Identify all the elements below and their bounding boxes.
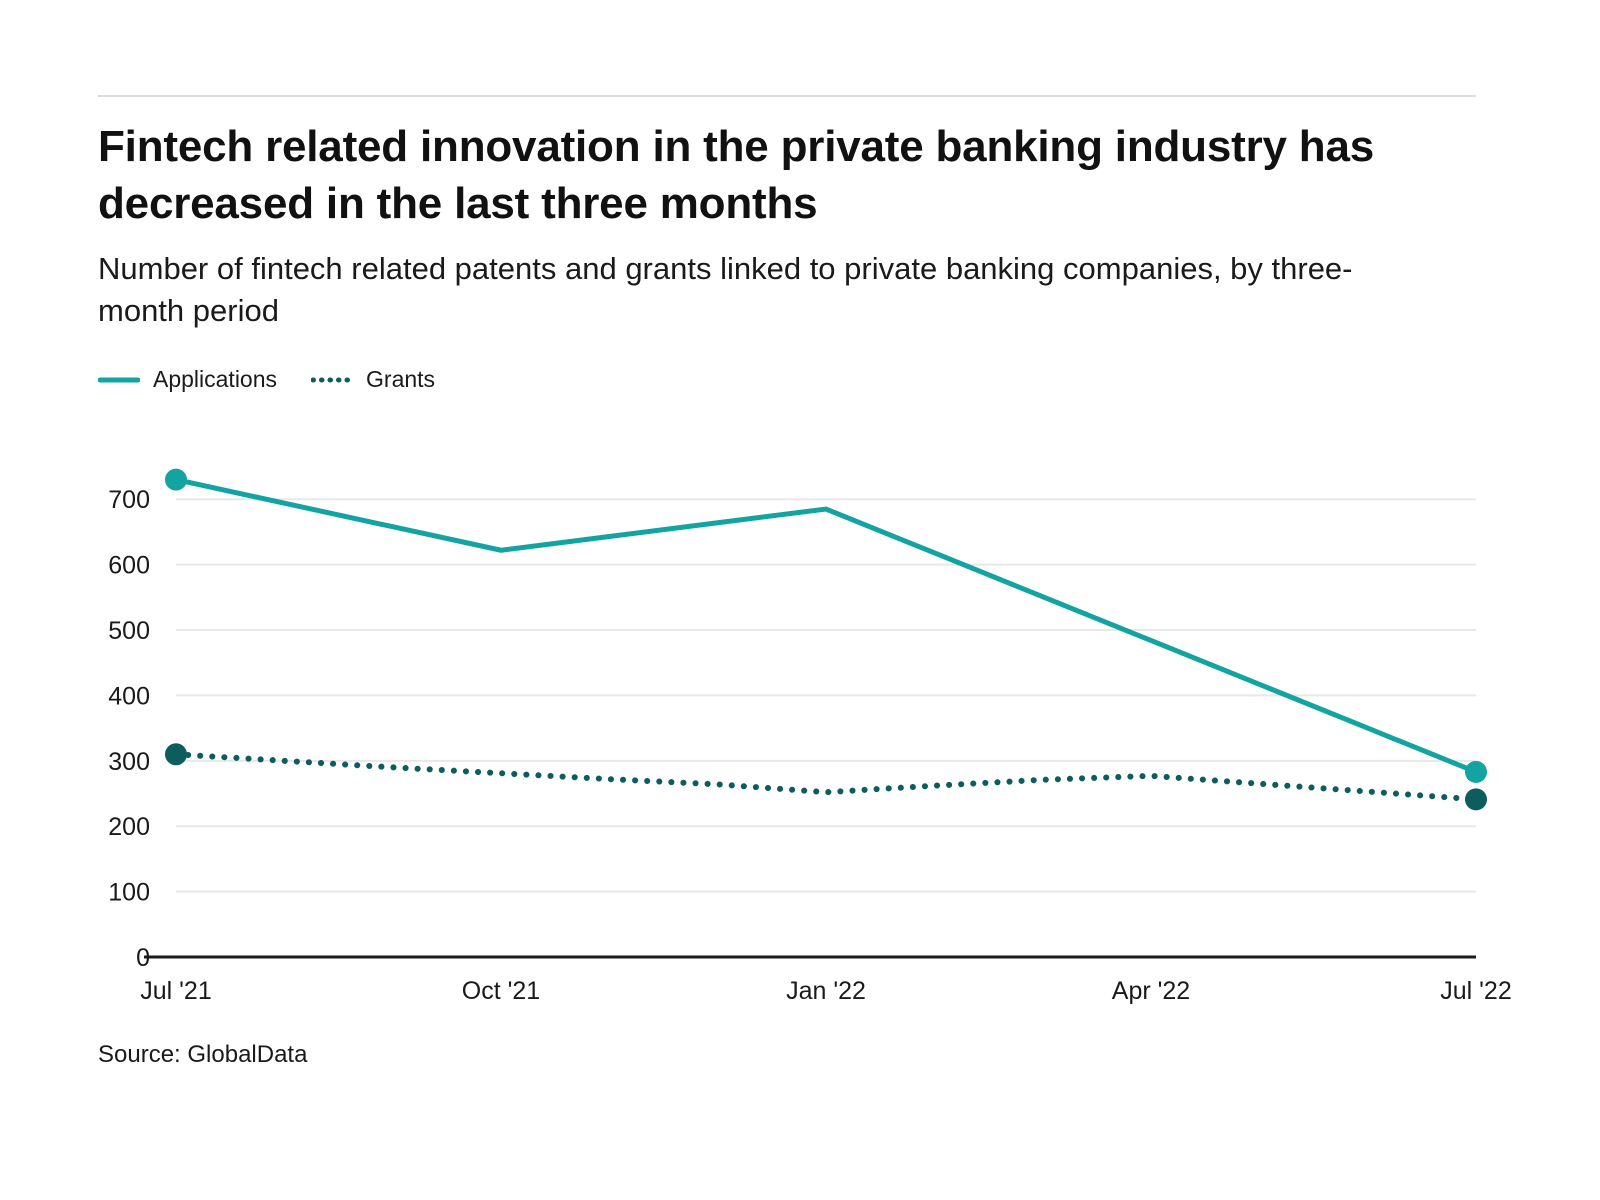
y-tick-label: 500 [108, 617, 150, 645]
x-tick-label: Oct '21 [462, 977, 540, 1005]
legend-swatch-solid-line-icon [98, 373, 140, 387]
legend-item-grants[interactable]: Grants [311, 368, 435, 391]
x-tick-label: Jan '22 [786, 977, 866, 1005]
data-point-marker [165, 469, 187, 491]
y-tick-label: 400 [108, 682, 150, 710]
chart-area: 0100200300400500600700 Jul '21Oct '21Jan… [0, 400, 1600, 1020]
source-note: Source: GlobalData [98, 1041, 307, 1069]
line-chart: 0100200300400500600700 Jul '21Oct '21Jan… [0, 400, 1600, 1020]
x-tick-label: Apr '22 [1112, 977, 1190, 1005]
chart-page: Fintech related innovation in the privat… [0, 0, 1600, 1200]
y-tick-label: 600 [108, 552, 150, 580]
chart-series [165, 469, 1487, 811]
y-tick-label: 300 [108, 748, 150, 776]
page-title: Fintech related innovation in the privat… [98, 118, 1488, 232]
y-tick-label: 700 [108, 486, 150, 514]
page-subtitle: Number of fintech related patents and gr… [98, 248, 1428, 332]
y-axis-labels: 0100200300400500600700 [108, 486, 150, 972]
top-divider [98, 95, 1476, 97]
y-tick-label: 200 [108, 813, 150, 841]
x-tick-label: Jul '22 [1440, 977, 1511, 1005]
legend-label-grants: Grants [366, 368, 435, 391]
legend-swatch-dotted-line-icon [311, 373, 353, 387]
chart-legend: Applications Grants [98, 368, 435, 391]
y-tick-label: 100 [108, 879, 150, 907]
data-point-marker [1465, 761, 1487, 783]
legend-label-applications: Applications [153, 368, 277, 391]
data-point-marker [1465, 788, 1487, 810]
x-tick-label: Jul '21 [140, 977, 211, 1005]
legend-item-applications[interactable]: Applications [98, 368, 277, 391]
x-axis-labels: Jul '21Oct '21Jan '22Apr '22Jul '22 [140, 977, 1511, 1005]
data-point-marker [165, 743, 187, 765]
series-line-applications [176, 480, 1476, 772]
